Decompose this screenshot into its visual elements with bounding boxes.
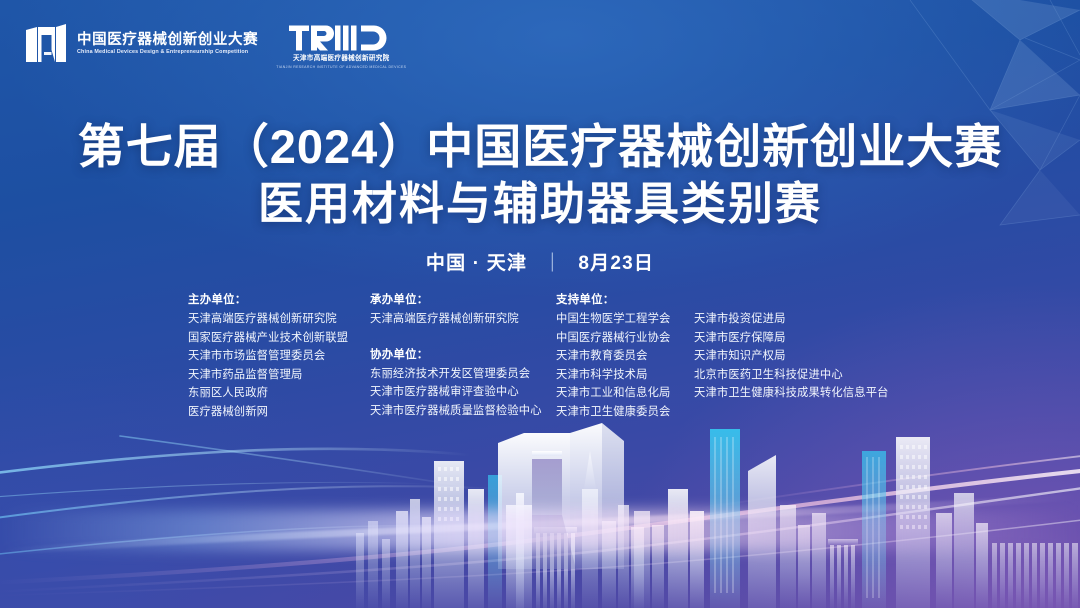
list-item: 天津市药品监督管理局 bbox=[188, 366, 370, 385]
list-item: 医疗器械创新网 bbox=[188, 403, 370, 422]
title-block: 第七届（2024）中国医疗器械创新创业大赛 医用材料与辅助器具类别赛 中国 · … bbox=[0, 118, 1080, 275]
coorganizer-group: 协办单位： 东丽经济技术开发区管理委员会 天津市医疗器械审评查验中心 天津市医疗… bbox=[370, 346, 556, 421]
coorganizer-heading: 协办单位： bbox=[370, 346, 556, 365]
institute-logo-en-name: TIANJIN RESEARCH INSTITUTE OF ADVANCED M… bbox=[276, 66, 406, 70]
poster-canvas: 中国医疗器械创新创业大赛 China Medical Devices Desig… bbox=[0, 0, 1080, 608]
list-item: 东丽经济技术开发区管理委员会 bbox=[370, 365, 556, 384]
header-logos: 中国医疗器械创新创业大赛 China Medical Devices Desig… bbox=[24, 22, 406, 69]
list-item: 天津市工业和信息化局 bbox=[556, 384, 684, 403]
supporters-sublist-left: 支持单位： 中国生物医学工程学会 中国医疗器械行业协会 天津市教育委员会 天津市… bbox=[556, 291, 684, 422]
list-item: 北京市医药卫生科技促进中心 bbox=[694, 366, 896, 385]
list-item: 中国生物医学工程学会 bbox=[556, 310, 684, 329]
list-item: 天津市卫生健康科技成果转化信息平台 bbox=[694, 384, 896, 403]
hosts-column: 承办单位： 天津高端医疗器械创新研究院 协办单位： 东丽经济技术开发区管理委员会… bbox=[370, 291, 556, 420]
supporters-column: 支持单位： 中国生物医学工程学会 中国医疗器械行业协会 天津市教育委员会 天津市… bbox=[556, 291, 896, 422]
list-item: 国家医疗器械产业技术创新联盟 bbox=[188, 329, 370, 348]
list-item: 天津市教育委员会 bbox=[556, 347, 684, 366]
list-item: 天津高端医疗器械创新研究院 bbox=[370, 310, 556, 329]
event-date: 8月23日 bbox=[578, 253, 654, 274]
list-item: 天津市市场监督管理委员会 bbox=[188, 347, 370, 366]
list-item: 中国医疗器械行业协会 bbox=[556, 329, 684, 348]
competition-logo-en-name: China Medical Devices Design & Entrepren… bbox=[77, 49, 258, 55]
organizers-column: 主办单位： 天津高端医疗器械创新研究院 国家医疗器械产业技术创新联盟 天津市市场… bbox=[188, 291, 370, 422]
event-location: 中国 · 天津 bbox=[426, 253, 527, 274]
undertaker-heading: 承办单位： bbox=[370, 291, 556, 310]
organizations-block: 主办单位： 天津高端医疗器械创新研究院 国家医疗器械产业技术创新联盟 天津市市场… bbox=[188, 291, 896, 422]
tianjin-skyline-silhouette bbox=[0, 393, 1080, 608]
list-item: 天津市科学技术局 bbox=[556, 366, 684, 385]
open-door-logo-building bbox=[498, 423, 624, 571]
supporters-sublist-right: 天津市投资促进局 天津市医疗保障局 天津市知识产权局 北京市医药卫生科技促进中心… bbox=[694, 291, 896, 422]
institute-logo-cn-name: 天津市高端医疗器械创新研究院 bbox=[293, 56, 390, 63]
trimd-wordmark-icon bbox=[289, 23, 393, 53]
page-title-line1: 第七届（2024）中国医疗器械创新创业大赛 bbox=[0, 118, 1080, 176]
competition-logo-cn-name: 中国医疗器械创新创业大赛 bbox=[77, 33, 258, 48]
list-item: 天津市知识产权局 bbox=[694, 347, 896, 366]
list-item: 天津市医疗保障局 bbox=[694, 329, 896, 348]
competition-logo: 中国医疗器械创新创业大赛 China Medical Devices Desig… bbox=[24, 22, 258, 66]
institute-logo: 天津市高端医疗器械创新研究院 TIANJIN RESEARCH INSTITUT… bbox=[276, 22, 406, 69]
page-title-line2: 医用材料与辅助器具类别赛 bbox=[0, 176, 1080, 232]
list-item: 天津市卫生健康委员会 bbox=[556, 403, 684, 422]
layout-spacer bbox=[694, 291, 896, 310]
meta-separator: ｜ bbox=[543, 248, 563, 275]
supporters-heading: 支持单位： bbox=[556, 291, 684, 310]
open-door-mark-icon bbox=[24, 22, 68, 66]
list-item: 东丽区人民政府 bbox=[188, 384, 370, 403]
organizers-heading: 主办单位： bbox=[188, 291, 370, 310]
organizers-group: 主办单位： 天津高端医疗器械创新研究院 国家医疗器械产业技术创新联盟 天津市市场… bbox=[188, 291, 370, 422]
list-item: 天津市医疗器械审评查验中心 bbox=[370, 383, 556, 402]
list-item: 天津市投资促进局 bbox=[694, 310, 896, 329]
event-meta: 中国 · 天津 ｜ 8月23日 bbox=[0, 248, 1080, 275]
list-item: 天津高端医疗器械创新研究院 bbox=[188, 310, 370, 329]
list-item: 天津市医疗器械质量监督检验中心 bbox=[370, 402, 556, 421]
undertaker-group: 承办单位： 天津高端医疗器械创新研究院 bbox=[370, 291, 556, 329]
